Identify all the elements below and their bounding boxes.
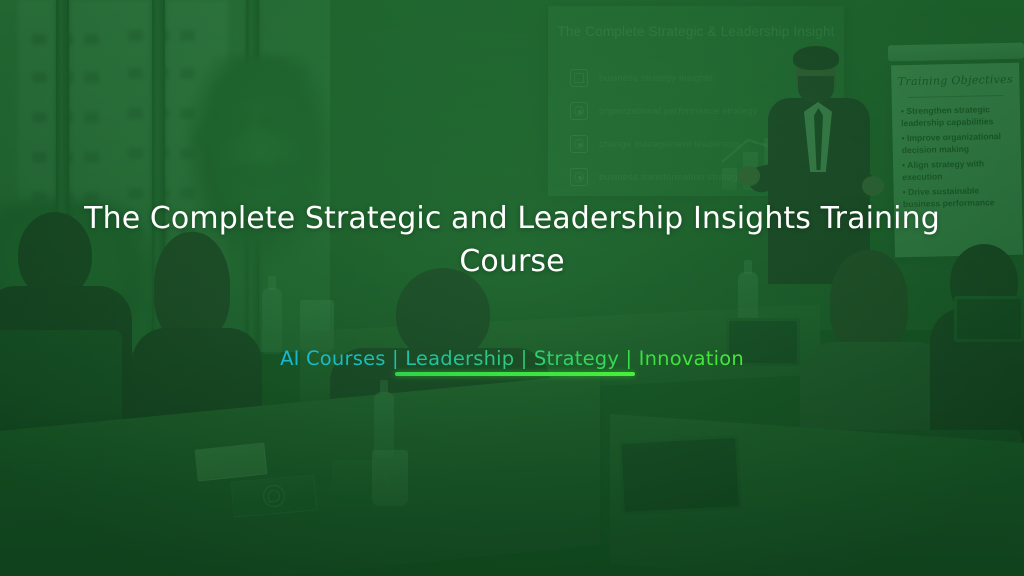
page-title-line-2: Course	[459, 244, 564, 279]
title-block: The Complete Strategic and Leadership In…	[0, 198, 1024, 283]
slide-canvas: The Complete Strategic & Leadership Insi…	[0, 0, 1024, 576]
subtitle-underline	[395, 372, 635, 376]
subtitle-block: AI Courses | Leadership | Strategy | Inn…	[0, 349, 1024, 369]
green-overlay-vignette	[0, 0, 1024, 576]
subtitle-tagline: AI Courses | Leadership | Strategy | Inn…	[280, 349, 744, 369]
page-title-line-1: The Complete Strategic and Leadership In…	[84, 201, 940, 236]
page-title: The Complete Strategic and Leadership In…	[72, 198, 952, 283]
background-photo: The Complete Strategic & Leadership Insi…	[0, 0, 1024, 576]
